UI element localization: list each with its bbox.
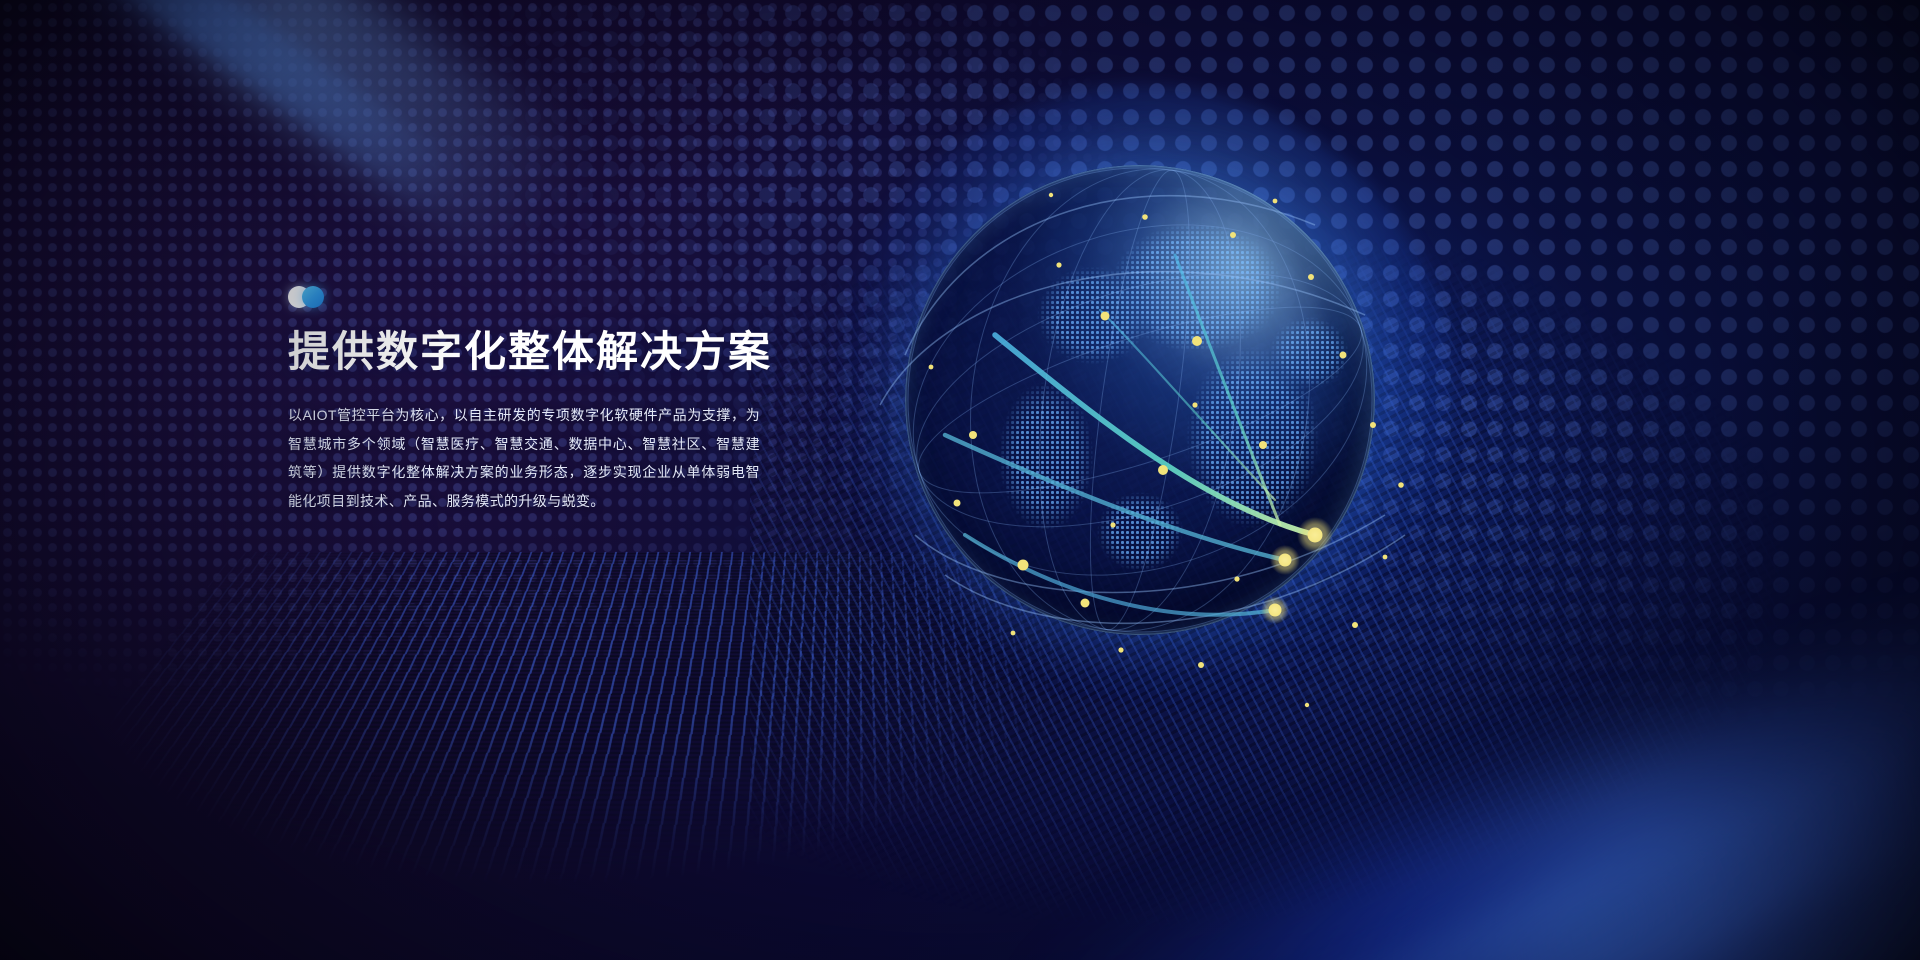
hero-copy-block: 提供数字化整体解决方案 以AIOT管控平台为核心，以自主研发的专项数字化软硬件产… (288, 286, 760, 516)
logo-blue-dot-icon (302, 286, 324, 308)
brand-logo-mark (288, 286, 340, 308)
hero-banner: 提供数字化整体解决方案 以AIOT管控平台为核心，以自主研发的专项数字化软硬件产… (0, 0, 1920, 960)
globe-network-overlay (845, 105, 1435, 695)
hero-description: 以AIOT管控平台为核心，以自主研发的专项数字化软硬件产品为支撑，为智慧城市多个… (288, 401, 760, 516)
page-title: 提供数字化整体解决方案 (288, 328, 760, 375)
globe-graphic (905, 165, 1375, 635)
